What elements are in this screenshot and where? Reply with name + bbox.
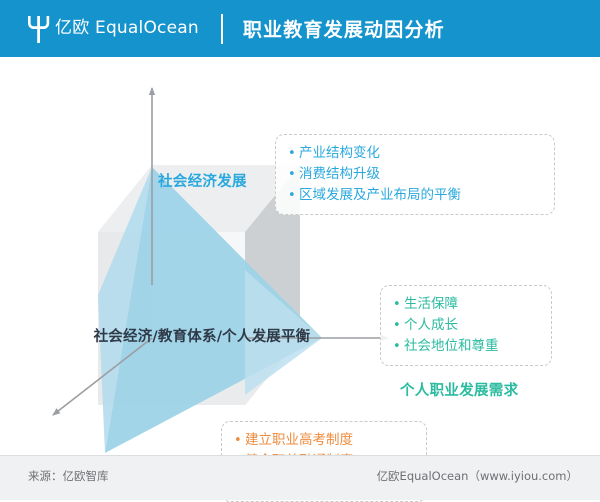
callout-list: •产业结构变化 •消费结构升级 •区域发展及产业布局的平衡: [288, 143, 542, 205]
list-item: •个人成长: [393, 315, 539, 336]
list-item: •建立职业高考制度: [234, 430, 414, 451]
bullet-icon: •: [288, 186, 299, 206]
list-item: •社会地位和尊重: [393, 336, 539, 357]
bullet-icon: •: [393, 337, 404, 357]
list-item: •生活保障: [393, 294, 539, 315]
tree-logo-icon: [26, 14, 52, 44]
logo-wordmark: 亿欧 EqualOcean: [55, 20, 199, 38]
diagram-center-label: 社会经济/教育体系/个人发展平衡: [78, 327, 326, 348]
footer-brand-text: 亿欧EqualOcean（www.iyiou.com）: [377, 468, 578, 484]
header-divider: [221, 14, 223, 44]
list-item: •消费结构升级: [288, 164, 542, 185]
bullet-icon: •: [288, 165, 299, 185]
list-item-text: 区域发展及产业布局的平衡: [299, 187, 461, 203]
bullet-icon: •: [288, 144, 299, 164]
footer-source-text: 来源：亿欧智库: [28, 468, 109, 484]
brand-logo[interactable]: 亿欧 EqualOcean: [26, 14, 199, 44]
callout-social-economic: •产业结构变化 •消费结构升级 •区域发展及产业布局的平衡: [275, 134, 555, 215]
header-bar: 亿欧 EqualOcean 职业教育发展动因分析: [0, 0, 600, 57]
list-item-text: 建立职业高考制度: [245, 432, 353, 448]
bullet-icon: •: [393, 316, 404, 336]
page-title: 职业教育发展动因分析: [243, 15, 445, 42]
list-item: •区域发展及产业布局的平衡: [288, 185, 542, 206]
list-item-text: 产业结构变化: [299, 145, 380, 161]
diagram-canvas: 社会经济发展 个人职业发展需求 职业教育体系建设 社会经济/教育体系/个人发展平…: [0, 57, 600, 455]
callout-personal-career: •生活保障 •个人成长 •社会地位和尊重: [380, 285, 552, 366]
list-item-text: 社会地位和尊重: [404, 338, 499, 354]
axis-label-social-economic: 社会经济发展: [158, 170, 247, 191]
list-item: •产业结构变化: [288, 143, 542, 164]
list-item-text: 消费结构升级: [299, 166, 380, 182]
bullet-icon: •: [234, 431, 245, 451]
axis-label-personal-career: 个人职业发展需求: [400, 379, 518, 400]
list-item-text: 生活保障: [404, 296, 458, 312]
bullet-icon: •: [393, 295, 404, 315]
footer-bar: 来源：亿欧智库 亿欧EqualOcean（www.iyiou.com）: [0, 455, 600, 500]
list-item-text: 个人成长: [404, 317, 458, 333]
callout-list: •生活保障 •个人成长 •社会地位和尊重: [393, 294, 539, 356]
